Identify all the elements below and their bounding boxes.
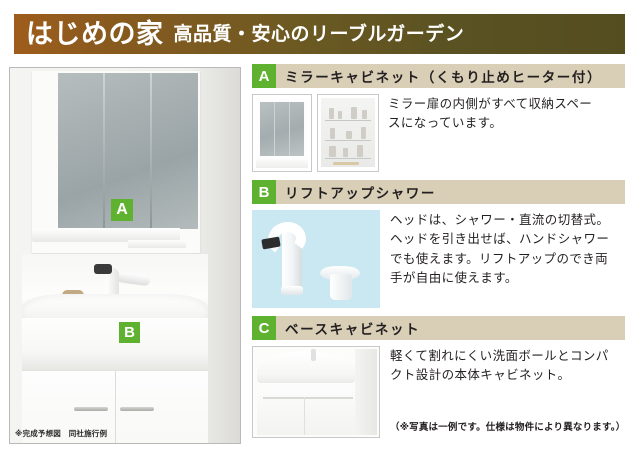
thumb-item bbox=[329, 108, 334, 119]
section-c-body: 軽くて割れにくい洗面ボールとコンパクト設計の本体キャビネット。 （※写真は一例で… bbox=[252, 340, 625, 438]
section-b-body: ヘッドは、シャワー・直流の切替式。ヘッドを引き出せば、ハンドシャワーでも使えます… bbox=[252, 204, 625, 308]
feature-section-a: A ミラーキャビネット（くもり止めヒーター付） bbox=[252, 64, 625, 172]
thumb-item bbox=[338, 111, 342, 119]
thumb-cabinet-base bbox=[256, 157, 308, 168]
feature-section-c: C ベースキャビネット 軽くて割れにくい洗面ボールとコンパクト設計の本体キャビネ… bbox=[252, 316, 625, 438]
section-b-text: ヘッドは、シャワー・直流の切替式。ヘッドを引き出せば、ハンドシャワーでも使えます… bbox=[390, 210, 618, 308]
thumb-item bbox=[333, 162, 359, 165]
photo-badge-b: B bbox=[119, 322, 140, 343]
footnote: （※写真は一例です。仕様は物件により異なります。） bbox=[390, 419, 618, 433]
section-a-text: ミラー扉の内側がすべて収納スペースになっています。 bbox=[388, 94, 600, 172]
photo-right-wall bbox=[204, 68, 240, 443]
feature-list: A ミラーキャビネット（くもり止めヒーター付） bbox=[252, 64, 625, 438]
section-b-title: リフトアップシャワー bbox=[285, 182, 436, 202]
shower-ring bbox=[281, 286, 303, 295]
thumb-open-interior bbox=[321, 98, 375, 167]
main-photo-caption: ※完成予想図 同社施行例 bbox=[15, 428, 107, 439]
thumb-shelf-line-3 bbox=[325, 158, 371, 159]
mirror-cabinet-open-thumb bbox=[317, 94, 379, 172]
section-a-title: ミラーキャビネット（くもり止めヒーター付） bbox=[285, 66, 602, 86]
cabinet-gap-line bbox=[263, 397, 353, 399]
banner-title: はじめの家 bbox=[26, 21, 164, 48]
mirror-cabinet-closed-thumb bbox=[252, 94, 312, 172]
section-c-letter-badge: C bbox=[252, 316, 276, 340]
cabinet-shelf-secondary bbox=[128, 240, 186, 248]
thumb-item bbox=[351, 107, 357, 119]
cabinet-front bbox=[257, 383, 355, 435]
section-b-letter-badge: B bbox=[252, 180, 276, 204]
shower-base-body bbox=[330, 274, 352, 300]
section-a-letter-badge: A bbox=[252, 64, 276, 88]
thumb-mirror-doors bbox=[257, 99, 307, 159]
thumb-shelf-line-2 bbox=[325, 140, 371, 141]
section-a-body: ミラー扉の内側がすべて収納スペースになっています。 bbox=[252, 88, 625, 172]
main-vanity-photo: A B C ※完成予想図 同社施行例 bbox=[9, 67, 241, 444]
thumb-item bbox=[329, 146, 336, 157]
feature-section-b: B リフトアップシャワー ヘッドは、シャワー・直流の切替式。ヘッドを引き出せば、… bbox=[252, 180, 625, 308]
base-cabinet-photo bbox=[252, 346, 380, 438]
cabinet-handle-right bbox=[120, 407, 154, 411]
cabinet-door-split bbox=[304, 397, 305, 435]
section-c-header: C ベースキャビネット bbox=[252, 316, 625, 340]
section-a-header: A ミラーキャビネット（くもり止めヒーター付） bbox=[252, 64, 625, 88]
lift-up-shower-photo bbox=[252, 210, 380, 308]
vanity-counter bbox=[22, 318, 208, 370]
cabinet-handle-left bbox=[74, 407, 108, 411]
thumb-item bbox=[362, 110, 367, 119]
section-c-title: ベースキャビネット bbox=[285, 318, 420, 338]
mirror-cabinet-graphic bbox=[32, 71, 200, 253]
cabinet-side-panel bbox=[355, 349, 377, 435]
thumb-item bbox=[346, 131, 352, 139]
thumb-item bbox=[330, 128, 335, 139]
thumb-item bbox=[357, 145, 363, 157]
basin-bowl bbox=[257, 351, 355, 385]
thumb-item bbox=[361, 127, 366, 139]
section-c-text: 軽くて割れにくい洗面ボールとコンパクト設計の本体キャビネット。 bbox=[390, 346, 618, 385]
page-banner: はじめの家 高品質・安心のリーブルガーデン bbox=[14, 14, 625, 54]
photo-badge-a: A bbox=[111, 199, 133, 221]
thumb-seam-left bbox=[274, 102, 275, 156]
thumb-shelf-line-1 bbox=[325, 120, 371, 121]
mirror-seam-right bbox=[150, 73, 152, 229]
thumb-item bbox=[343, 148, 348, 157]
mirror-seam-left bbox=[103, 73, 105, 229]
basin-tap bbox=[311, 349, 316, 361]
section-c-text-block: 軽くて割れにくい洗面ボールとコンパクト設計の本体キャビネット。 （※写真は一例で… bbox=[390, 346, 618, 438]
banner-subtitle: 高品質・安心のリーブルガーデン bbox=[174, 25, 465, 44]
thumb-seam-right bbox=[289, 102, 290, 156]
section-b-header: B リフトアップシャワー bbox=[252, 180, 625, 204]
